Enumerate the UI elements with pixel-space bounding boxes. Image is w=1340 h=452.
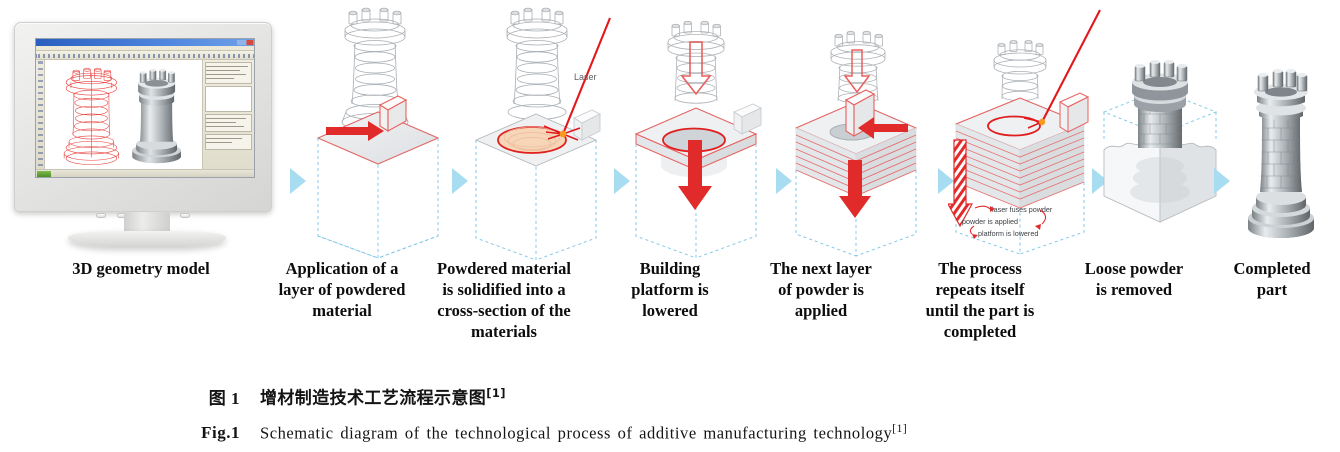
partially-emerged-part-icon (1132, 60, 1188, 148)
powder-bed-illustration (1098, 0, 1222, 260)
stage-apply-next-layer (786, 0, 936, 260)
caption-3d-geometry-model: 3D geometry model (16, 258, 266, 279)
chamber-illustration: Laser (462, 0, 612, 260)
figure-caption-zh: 图 1 增材制造技术工艺流程示意图[1] (0, 378, 1340, 414)
chamber-illustration (300, 0, 450, 260)
caption-repeat-process: The process repeats itself until the par… (900, 258, 1060, 342)
chamber-illustration (786, 0, 936, 260)
cad-statusbar (36, 169, 254, 177)
cad-titlebar (36, 39, 254, 46)
step-captions: 3D geometry model Application of a layer… (0, 258, 1340, 370)
cad-property-panel (202, 60, 254, 169)
figure-ref-zh: [1] (486, 386, 506, 400)
chamber-illustration: laser fuses powder powder is applied pla… (948, 0, 1108, 260)
figure-caption-en: Fig.1 Schematic diagram of the technolog… (0, 414, 1340, 449)
shaded-gray-rook-icon (132, 69, 181, 163)
finished-part-illustration (1222, 0, 1340, 260)
laser-label: Laser (574, 72, 597, 82)
window-buttons-icon (237, 40, 253, 45)
caption-apply-powder-layer: Application of a layer of powdered mater… (268, 258, 416, 321)
stage-completed-part (1222, 0, 1340, 260)
monitor-bezel (14, 22, 272, 212)
stage-repeat-process: laser fuses powder powder is applied pla… (948, 0, 1108, 260)
motion-arrow-down-outline-icon (845, 50, 869, 92)
ghost-wireframe-part-icon (507, 8, 567, 119)
monitor-power-button[interactable] (180, 213, 190, 218)
cad-left-toolbar (36, 60, 45, 169)
monitor-screen (35, 38, 255, 178)
figure-title-en: Schematic diagram of the technological p… (240, 414, 907, 449)
monitor-stand-base (68, 231, 226, 247)
caption-lower-platform: Building platform is lowered (600, 258, 740, 321)
figure-caption-block: 图 1 增材制造技术工艺流程示意图[1] Fig.1 Schematic dia… (0, 378, 1340, 448)
recoater-blade-icon (574, 110, 600, 140)
stage-3d-geometry-model (8, 0, 286, 260)
completed-rook-icon (1248, 69, 1314, 238)
figure-number-zh: 图 1 (174, 384, 240, 414)
stage-lower-platform (624, 0, 774, 260)
ghost-wireframe-part-icon (831, 31, 885, 103)
cad-viewport (45, 60, 202, 169)
caption-remove-loose-powder: Loose powder is removed (1068, 258, 1200, 300)
caption-apply-next-layer: The next layer of powder is applied (748, 258, 894, 321)
caption-solidify-cross-section: Powdered material is solidified into a c… (416, 258, 592, 342)
build-platform (318, 112, 438, 164)
cad-models (45, 60, 202, 169)
figure-title-zh: 增材制造技术工艺流程示意图[1] (240, 378, 506, 414)
figure-number-en: Fig.1 (174, 418, 240, 448)
ghost-wireframe-part-icon (994, 40, 1046, 100)
annotation-powder-is-applied: powder is applied (962, 217, 1018, 226)
loose-powder-block (1104, 142, 1216, 222)
process-annotations: laser fuses powder powder is applied pla… (962, 205, 1053, 239)
ghost-wireframe-part-icon (668, 21, 724, 103)
cad-workspace (36, 60, 254, 169)
recoater-blade-icon (734, 104, 761, 134)
caption-completed-part: Completed part (1212, 258, 1332, 300)
stage-solidify-cross-section: Laser (462, 0, 612, 260)
red-wireframe-rook-icon (64, 68, 119, 164)
process-diagram: Laser (0, 0, 1340, 260)
chamber-illustration (624, 0, 774, 260)
monitor-button[interactable] (96, 213, 106, 218)
stage-remove-loose-powder (1098, 0, 1222, 260)
figure-ref-en: [1] (892, 423, 907, 435)
stage-apply-powder-layer (300, 0, 450, 260)
cad-toolbar (36, 51, 254, 60)
annotation-platform-is-lowered: platform is lowered (978, 229, 1038, 238)
